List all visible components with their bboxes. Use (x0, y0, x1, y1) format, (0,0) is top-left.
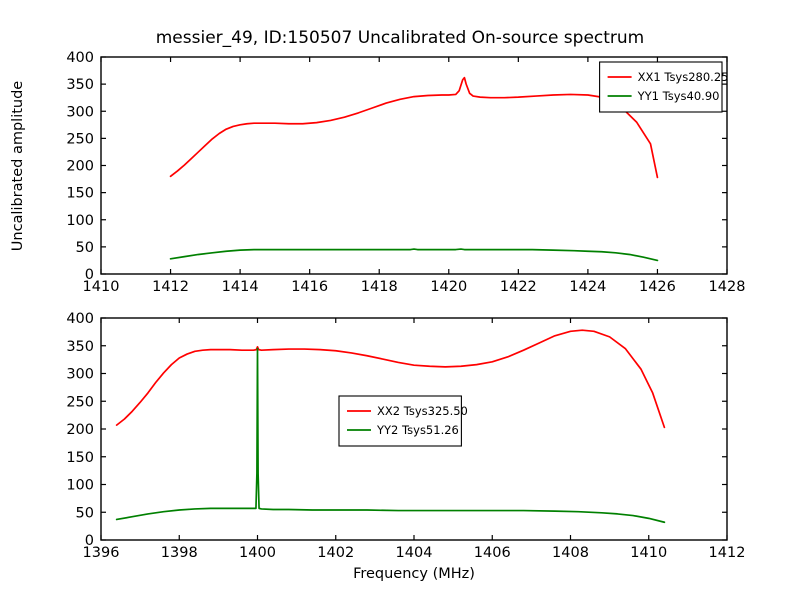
x-tick-label: 1418 (361, 279, 398, 295)
y-tick-label: 300 (66, 104, 94, 120)
top-panel-legend[interactable]: XX1 Tsys280.25YY1 Tsys40.90 (600, 62, 729, 112)
series-line (171, 78, 658, 178)
x-tick-label: 1412 (152, 279, 189, 295)
legend-label: YY2 Tsys51.26 (376, 423, 459, 437)
y-tick-label: 350 (66, 339, 94, 355)
x-tick-label: 1406 (474, 545, 511, 561)
y-tick-label: 200 (66, 159, 94, 175)
top-panel-ylabel: Uncalibrated amplitude (10, 81, 26, 252)
x-tick-label: 1428 (709, 279, 746, 295)
x-tick-label: 1408 (552, 545, 589, 561)
top-panel-series (171, 78, 658, 261)
spectrum-figure: messier_49, ID:150507 Uncalibrated On-so… (0, 0, 800, 600)
y-tick-label: 50 (76, 505, 94, 521)
x-tick-label: 1416 (291, 279, 328, 295)
x-tick-label: 1402 (317, 545, 354, 561)
legend-label: XX1 Tsys280.25 (638, 70, 729, 84)
series-line (171, 249, 658, 260)
x-tick-label: 1410 (630, 545, 667, 561)
y-tick-label: 350 (66, 77, 94, 93)
x-tick-label: 1398 (161, 545, 198, 561)
x-tick-label: 1412 (709, 545, 746, 561)
y-tick-label: 0 (85, 267, 94, 283)
top-panel-axes: 1410141214141416141814201422142414261428… (10, 50, 745, 295)
y-tick-label: 200 (66, 422, 94, 438)
bottom-panel-xlabel: Frequency (MHz) (353, 566, 475, 582)
y-tick-label: 150 (66, 186, 94, 202)
x-tick-label: 1404 (396, 545, 433, 561)
x-tick-label: 1420 (430, 279, 467, 295)
y-tick-label: 400 (66, 50, 94, 66)
x-tick-label: 1414 (222, 279, 259, 295)
legend-label: XX2 Tsys325.50 (377, 404, 468, 418)
x-tick-label: 1424 (569, 279, 606, 295)
x-tick-label: 1400 (239, 545, 276, 561)
legend-label: YY1 Tsys40.90 (637, 89, 720, 103)
bottom-panel-legend[interactable]: XX2 Tsys325.50YY2 Tsys51.26 (339, 396, 468, 446)
y-tick-label: 100 (66, 478, 94, 494)
plot-canvas: 1410141214141416141814201422142414261428… (0, 0, 800, 600)
y-tick-label: 50 (76, 240, 94, 256)
x-tick-label: 1426 (639, 279, 676, 295)
y-tick-label: 100 (66, 213, 94, 229)
y-tick-label: 300 (66, 367, 94, 383)
y-tick-label: 250 (66, 131, 94, 147)
bottom-panel-axes: 1396139814001402140414061408141014120501… (66, 311, 745, 582)
y-tick-label: 400 (66, 311, 94, 327)
y-tick-label: 0 (85, 533, 94, 549)
y-tick-label: 250 (66, 394, 94, 410)
x-tick-label: 1422 (500, 279, 537, 295)
y-tick-label: 150 (66, 450, 94, 466)
